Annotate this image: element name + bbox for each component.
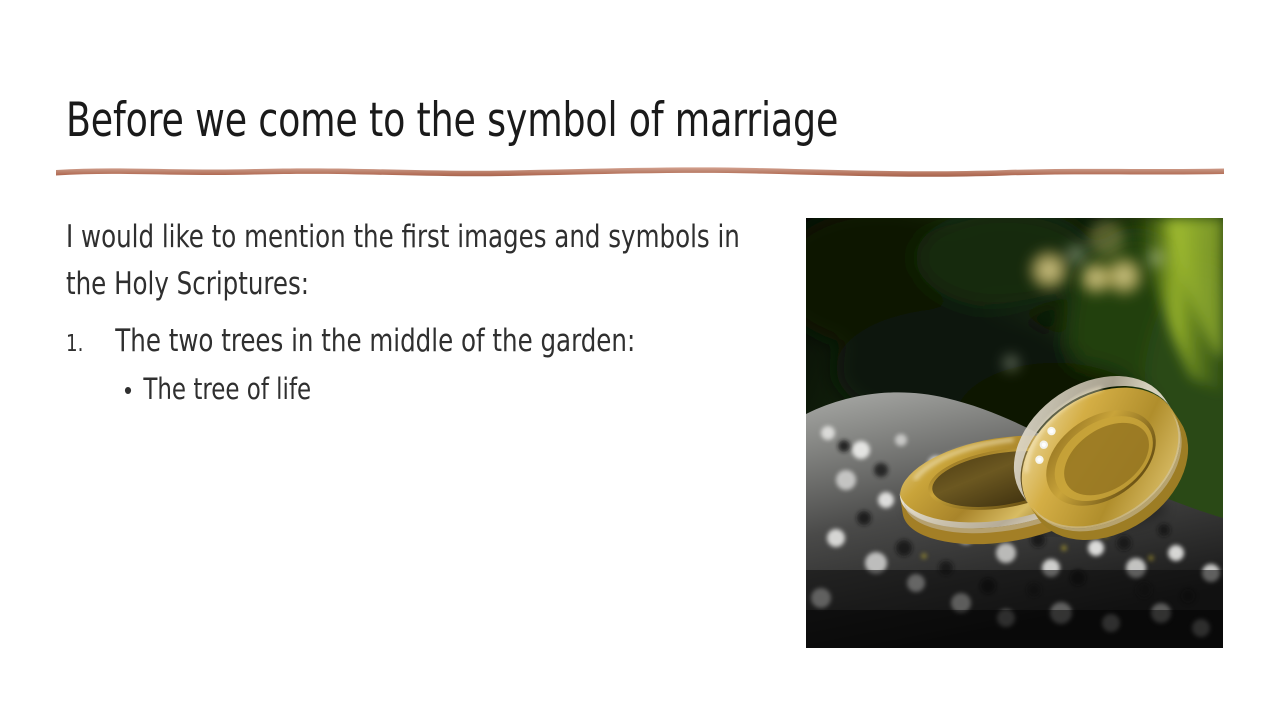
- title-block: Before we come to the symbol of marriage: [66, 96, 1226, 147]
- wedding-rings-photo: [806, 218, 1223, 648]
- body-content: I would like to mention the first images…: [66, 214, 766, 409]
- list-number: 1.: [66, 331, 115, 357]
- bullet-item-label: The tree of life: [143, 371, 311, 409]
- intro-paragraph: I would like to mention the first images…: [66, 214, 762, 307]
- bullet-dot-icon: •: [124, 377, 143, 403]
- wavy-copper-rule: [56, 158, 1224, 180]
- list-item-label: The two trees in the middle of the garde…: [115, 321, 635, 361]
- page-title: Before we come to the symbol of marriage: [66, 96, 1064, 147]
- numbered-list-item: 1. The two trees in the middle of the ga…: [66, 321, 762, 361]
- bullet-list-item: • The tree of life: [124, 371, 820, 409]
- slide-canvas: Before we come to the symbol of marriage…: [0, 0, 1280, 720]
